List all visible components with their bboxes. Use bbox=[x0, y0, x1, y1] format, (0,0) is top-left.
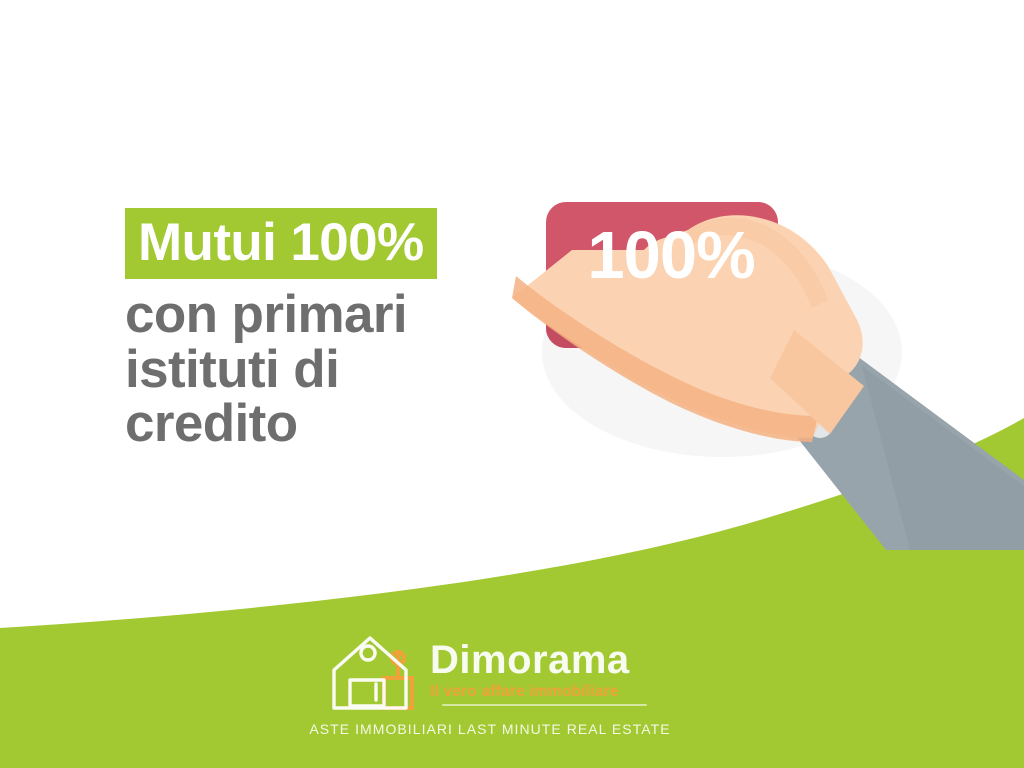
logo-strapline: ASTE IMMOBILIARI LAST MINUTE REAL ESTATE bbox=[290, 722, 690, 736]
dimorama-logo-lockup[interactable]: Dimorama Il vero affare immobiliare ASTE… bbox=[290, 628, 690, 756]
promo-banner: Mutui 100% con primari istituti di credi… bbox=[0, 0, 1024, 768]
logo-row: Dimorama Il vero affare immobiliare bbox=[290, 628, 690, 720]
logo-underline-rule bbox=[442, 704, 647, 706]
headline-line-1: con primari bbox=[125, 288, 545, 343]
headline-line-3: credito bbox=[125, 397, 545, 452]
headline-lines: con primari istituti di credito bbox=[125, 288, 545, 452]
logo-name: Dimorama bbox=[430, 640, 675, 680]
percentage-card-value: 100% bbox=[566, 222, 776, 289]
logo-tagline: Il vero affare immobiliare bbox=[430, 684, 675, 700]
headline-block: Mutui 100% con primari istituti di credi… bbox=[125, 208, 545, 452]
headline-line-2: istituti di bbox=[125, 343, 545, 398]
headline-highlight: Mutui 100% bbox=[125, 208, 437, 279]
headline-highlight-wrap: Mutui 100% bbox=[125, 208, 545, 279]
logo-wordmark: Dimorama Il vero affare immobiliare bbox=[430, 640, 675, 700]
dimorama-house-icon bbox=[328, 634, 432, 720]
